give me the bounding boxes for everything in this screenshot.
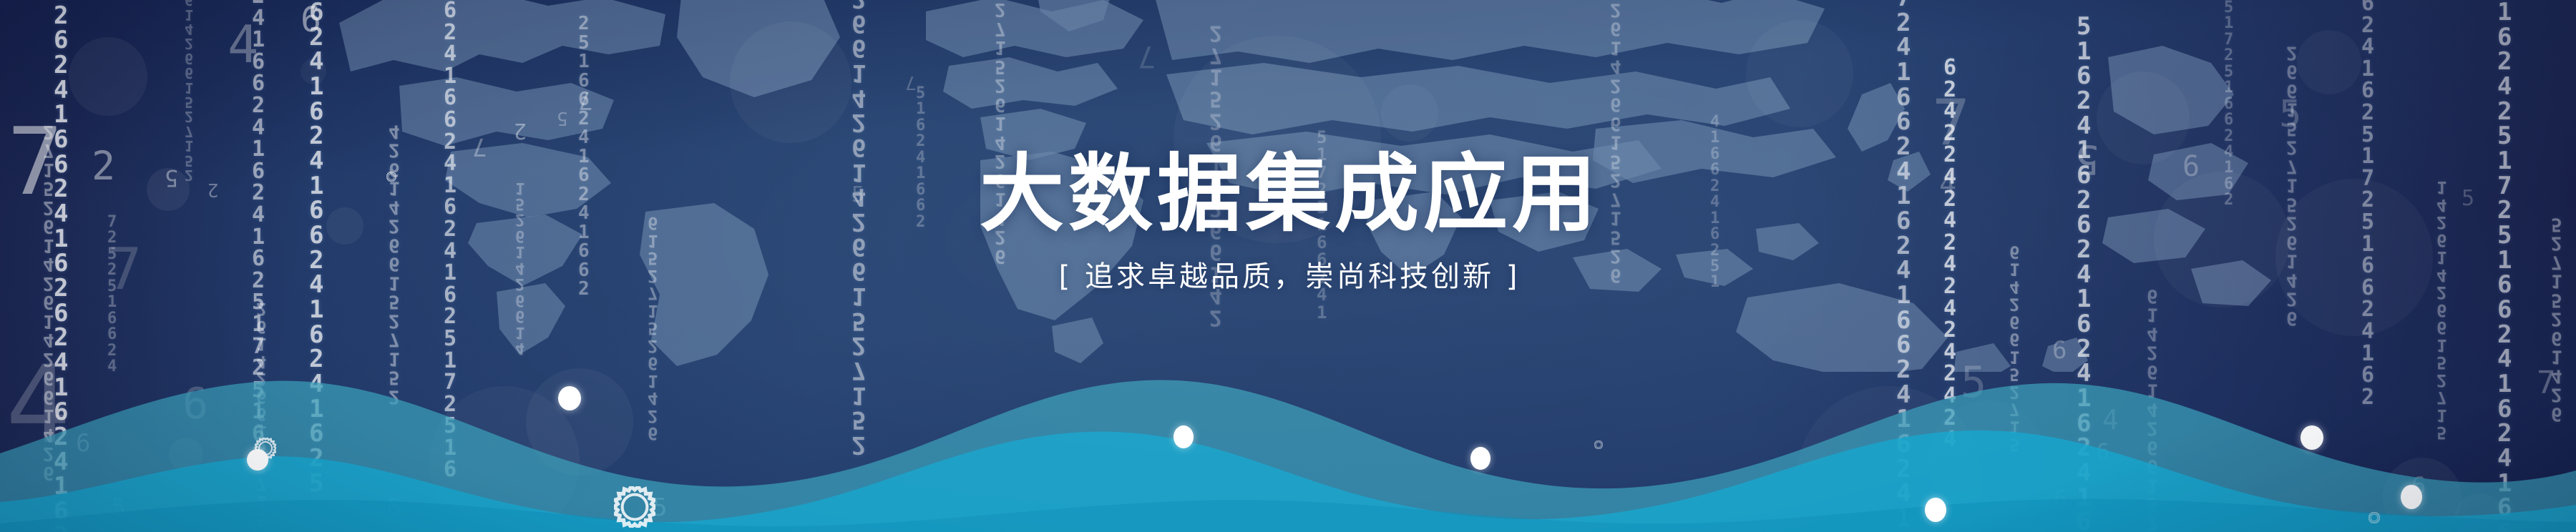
gear-icon (2368, 512, 2380, 523)
gear-icon (255, 438, 276, 459)
banner-text-block: 大数据集成应用 [ 追求卓越品质，崇尚科技创新 ] (0, 147, 2576, 294)
wave-crest-dot (2401, 485, 2422, 509)
wave-crest-dot (1470, 447, 1491, 470)
wave-crest-dot (1174, 425, 1194, 448)
gear-icon (614, 486, 655, 528)
wave-deep (0, 499, 2576, 532)
hero-banner: 5 2 6 2 4 1 6 6 2 4 1 6 2 6 2 4 1 6 2 4 … (0, 0, 2576, 532)
wave-crest-dot (2301, 425, 2323, 450)
wave-decoration (0, 317, 2576, 532)
gear-icon (1594, 440, 1603, 449)
wave-crest-dot (558, 386, 581, 410)
page-title: 大数据集成应用 (0, 147, 2576, 241)
page-subtitle: [ 追求卓越品质，崇尚科技创新 ] (0, 260, 2576, 294)
wave-crest-dot (1925, 498, 1946, 522)
